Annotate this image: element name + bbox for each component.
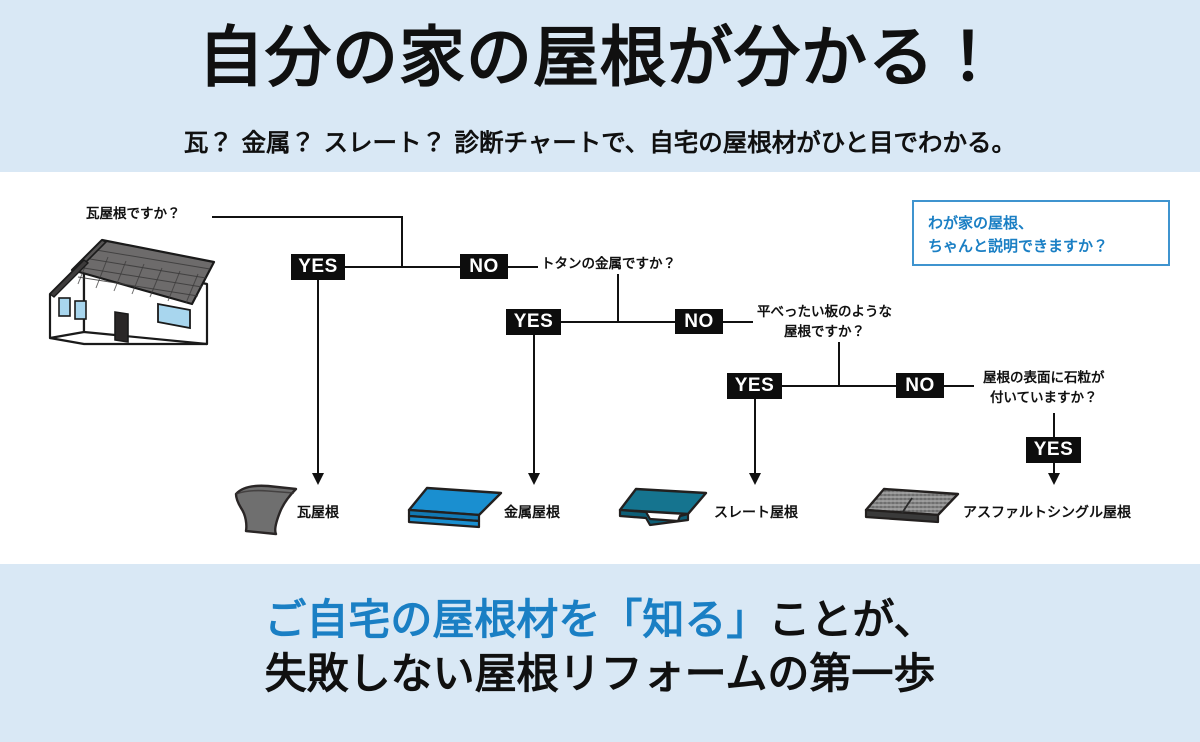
metal-sheet-sample <box>405 484 505 532</box>
house-illustration <box>42 232 222 350</box>
question-stone-granule-line1: 屋根の表面に石粒が <box>983 370 1105 386</box>
answer-yes-q4[interactable]: YES <box>1026 437 1081 463</box>
slate-board-sample <box>618 486 710 530</box>
question-kawara: 瓦屋根ですか？ <box>86 205 181 225</box>
question-flat-board-line1: 平べったい板のような <box>757 304 892 320</box>
answer-yes-q1[interactable]: YES <box>291 254 345 280</box>
kawara-tile-sample <box>220 482 302 537</box>
connector-q3-rail-right <box>838 385 896 387</box>
connector-q3-v <box>838 342 840 386</box>
answer-no-q1[interactable]: NO <box>460 254 508 279</box>
footer-rest-text: ことが、 <box>768 595 935 644</box>
question-stone-granule: 屋根の表面に石粒が 付いていますか？ <box>983 369 1105 408</box>
footer-line-1: ご自宅の屋根材を「知る」ことが、 <box>0 596 1200 643</box>
answer-no-q2[interactable]: NO <box>675 309 723 334</box>
callout-text: わが家の屋根、 ちゃんと説明できますか？ <box>928 212 1108 257</box>
answer-yes-q3[interactable]: YES <box>727 373 782 399</box>
connector-q1-rail-right <box>401 266 460 268</box>
result-label-slate: スレート屋根 <box>714 502 798 522</box>
answer-yes-q2[interactable]: YES <box>506 309 561 335</box>
result-label-metal: 金属屋根 <box>504 502 560 522</box>
connector-q2-rail-left <box>561 321 617 323</box>
callout-line1: わが家の屋根、 <box>928 214 1033 232</box>
connector-q1-rail-left <box>345 266 402 268</box>
result-label-asphalt: アスファルトシングル屋根 <box>963 502 1131 522</box>
answer-no-q3[interactable]: NO <box>896 373 944 398</box>
connector-q1-h <box>212 216 402 218</box>
arrow-to-slate <box>754 399 756 474</box>
connector-q3-rail-left <box>782 385 838 387</box>
connector-q2-rail-right <box>617 321 675 323</box>
footer-accent-text: ご自宅の屋根材を「知る」 <box>264 595 768 644</box>
connector-no1-to-q2 <box>508 266 538 268</box>
callout-line2: ちゃんと説明できますか？ <box>928 237 1108 255</box>
connector-no2-to-q3 <box>723 321 753 323</box>
question-flat-board: 平べったい板のような 屋根ですか？ <box>757 303 892 342</box>
connector-q1-v <box>401 216 403 267</box>
arrow-to-asphalt <box>1053 463 1055 474</box>
asphalt-shingle-sample <box>864 486 964 532</box>
question-flat-board-line2: 屋根ですか？ <box>784 324 865 340</box>
arrow-to-metal <box>533 335 535 474</box>
page-title: 自分の家の屋根が分かる！ <box>0 22 1200 93</box>
infographic-root: 自分の家の屋根が分かる！ 瓦？ 金属？ スレート？ 診断チャートで、自宅の屋根材… <box>0 0 1200 742</box>
callout-box: わが家の屋根、 ちゃんと説明できますか？ <box>912 200 1170 266</box>
result-label-kawara: 瓦屋根 <box>297 502 339 522</box>
page-subtitle: 瓦？ 金属？ スレート？ 診断チャートで、自宅の屋根材がひと目でわかる。 <box>0 124 1200 159</box>
question-totan: トタンの金属ですか？ <box>541 255 676 275</box>
connector-q2-v <box>617 274 619 322</box>
footer-line-2: 失敗しない屋根リフォームの第一歩 <box>0 650 1200 697</box>
connector-no3-to-q4 <box>944 385 974 387</box>
question-stone-granule-line2: 付いていますか？ <box>990 390 1098 406</box>
connector-q4-v <box>1053 413 1055 438</box>
arrow-to-kawara <box>317 280 319 474</box>
